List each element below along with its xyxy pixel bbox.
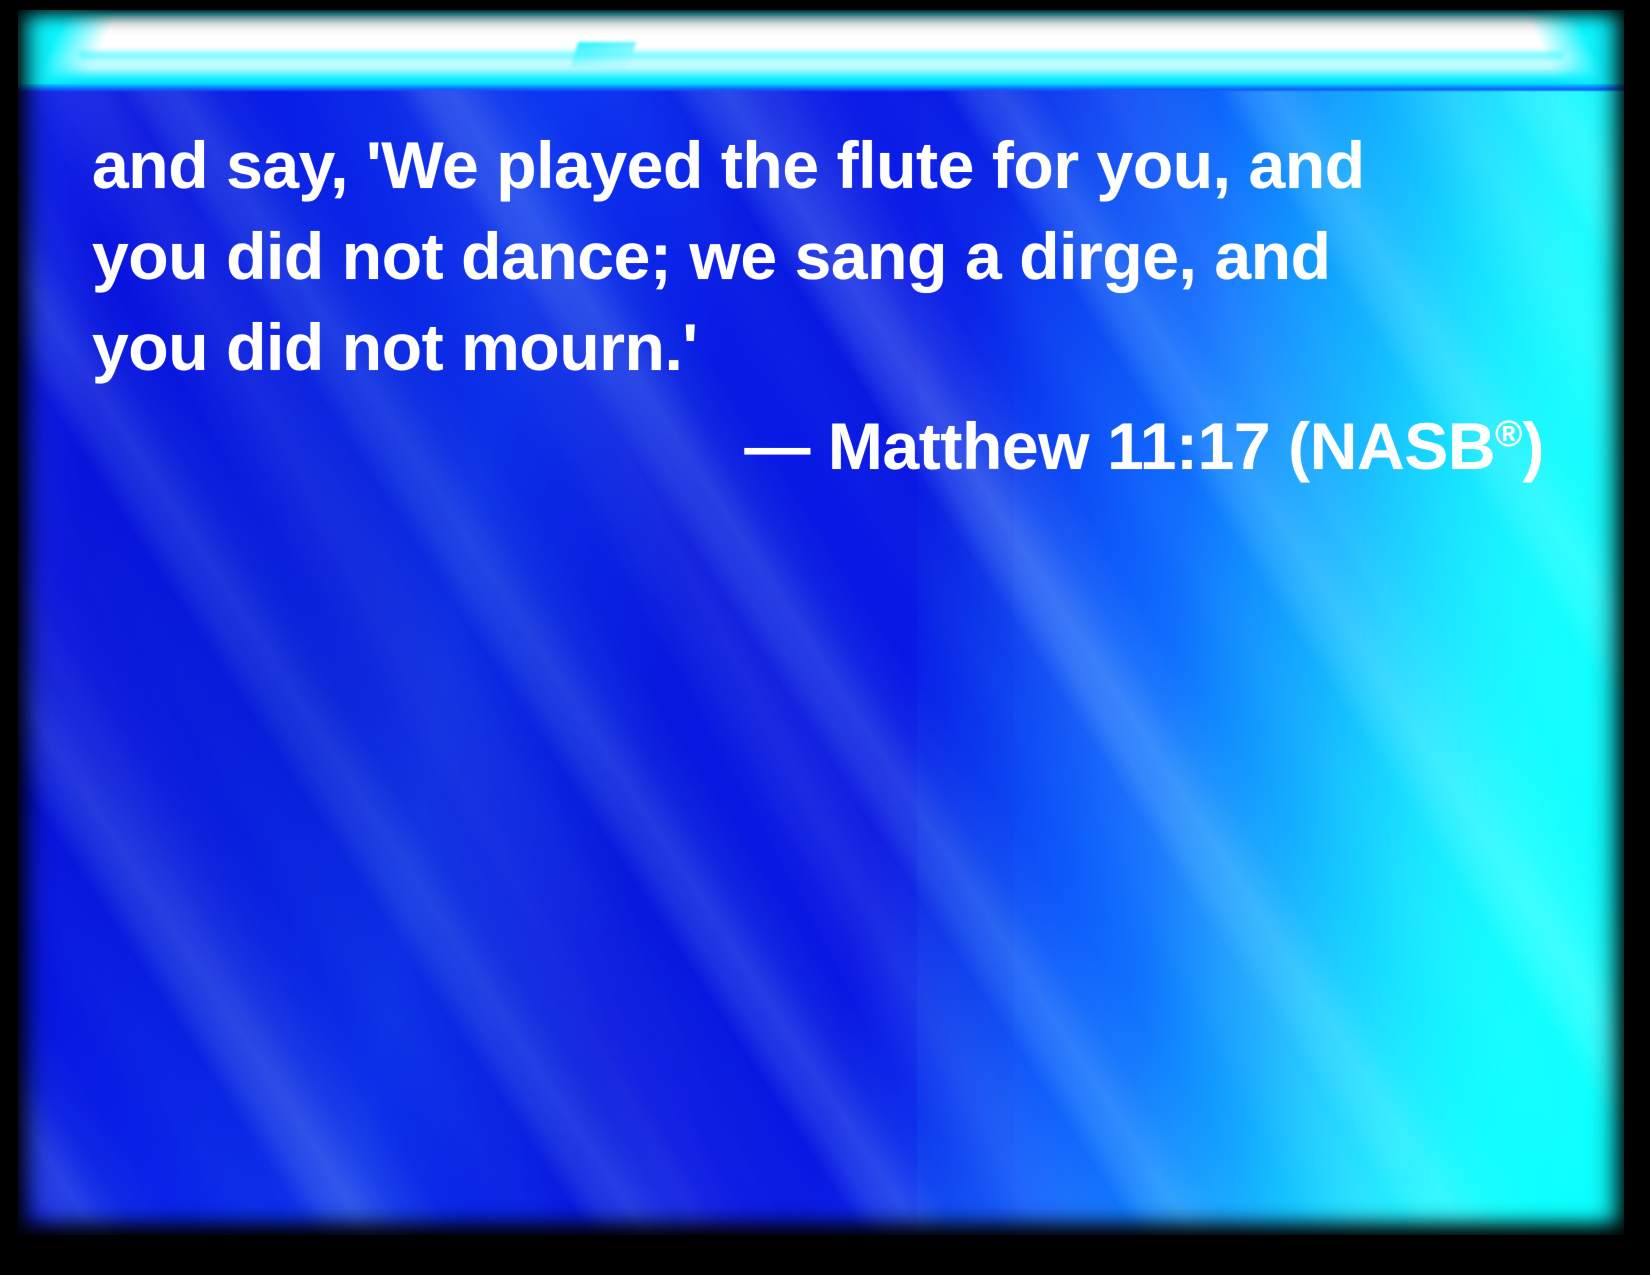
slide-frame: and say, 'We played the flute for you, a… bbox=[0, 0, 1650, 1275]
verse-line-2: you did not dance; we sang a dirge, and bbox=[92, 211, 1532, 302]
attribution-dash: — bbox=[744, 409, 810, 483]
verse-text-block: and say, 'We played the flute for you, a… bbox=[92, 120, 1532, 393]
registered-trademark-icon: ® bbox=[1495, 413, 1522, 454]
attribution-reference: 11:17 bbox=[1107, 409, 1270, 483]
verse-line-3: you did not mourn.' bbox=[92, 302, 1532, 393]
attribution-translation-close: ) bbox=[1522, 409, 1544, 483]
attribution-book: Matthew bbox=[828, 409, 1089, 483]
verse-line-1: and say, 'We played the flute for you, a… bbox=[92, 120, 1532, 211]
attribution-translation-open: (NASB bbox=[1288, 409, 1495, 483]
slide-canvas: and say, 'We played the flute for you, a… bbox=[18, 10, 1624, 1235]
verse-attribution: — Matthew 11:17 (NASB®) bbox=[92, 388, 1544, 492]
